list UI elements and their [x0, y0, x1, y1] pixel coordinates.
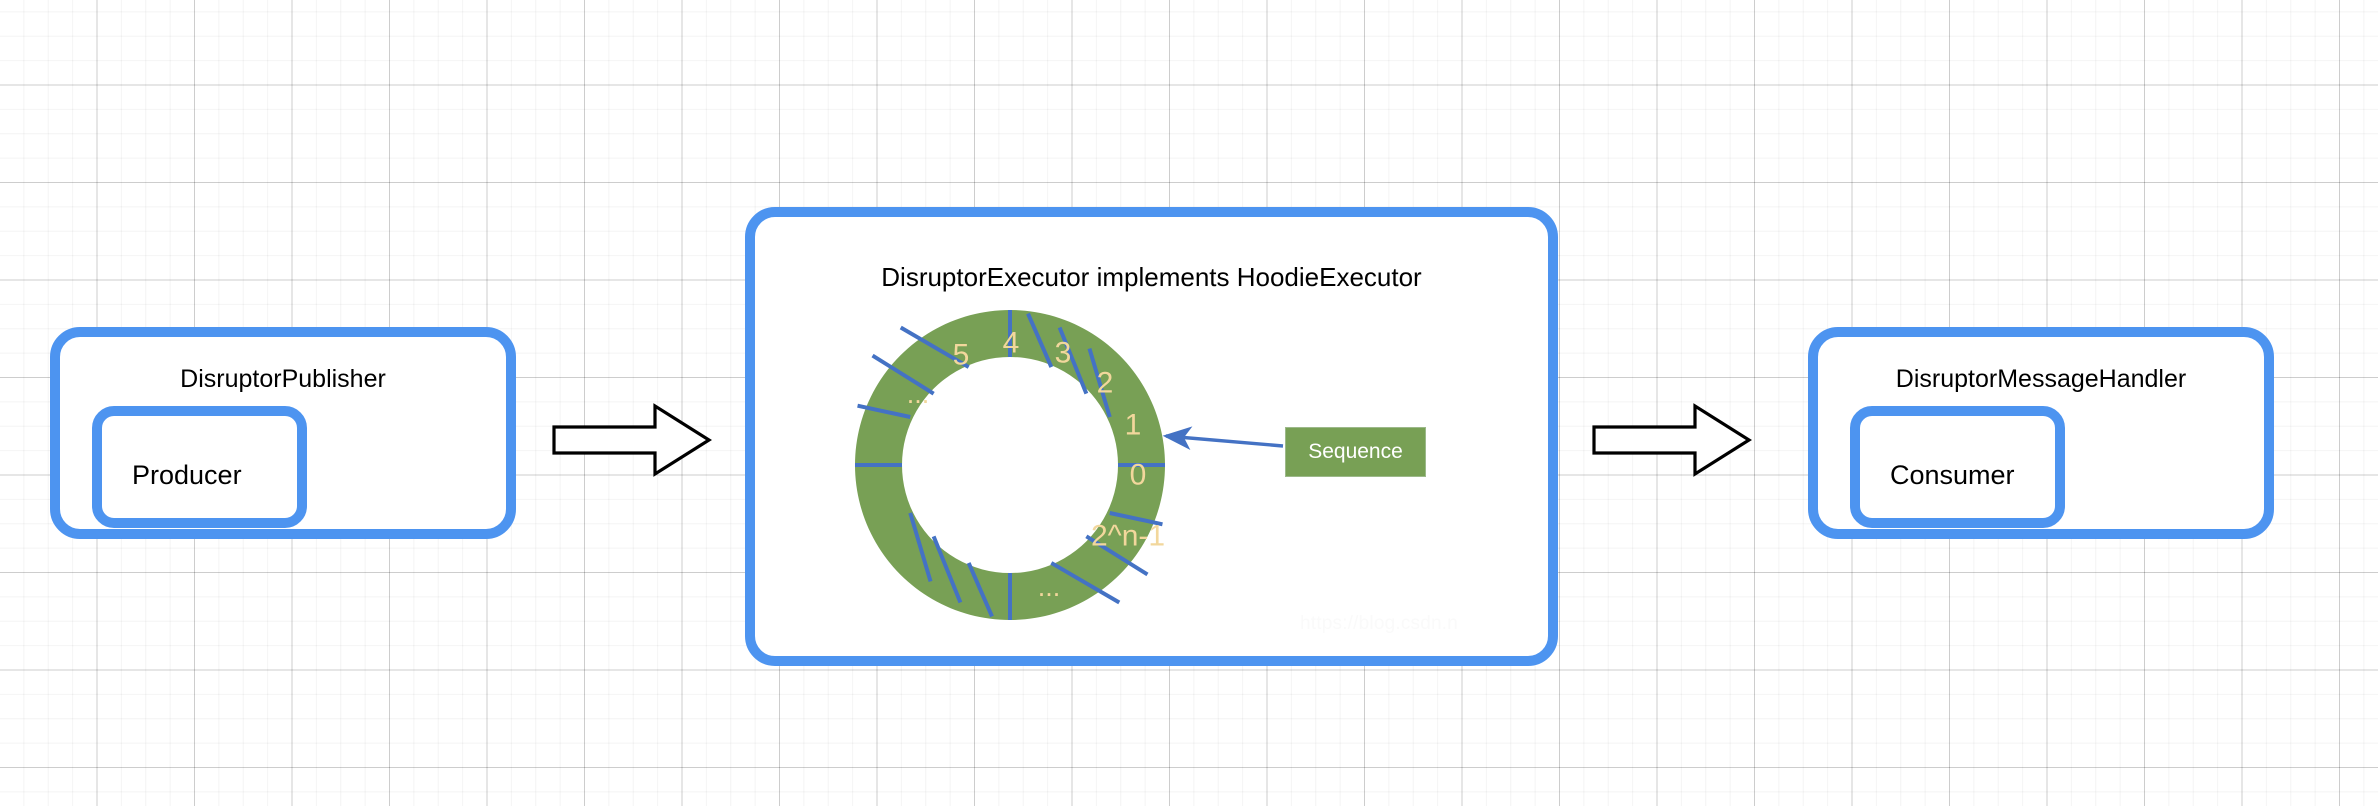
producer-label: Producer [132, 460, 242, 491]
diagram-canvas: DisruptorPublisher Producer DisruptorExe… [0, 0, 2378, 806]
ring-slot-label-1: 1 [1125, 409, 1142, 442]
ring-slot-label-3: 3 [1055, 337, 1072, 370]
disruptor-publisher-title: DisruptorPublisher [60, 365, 506, 394]
sequence-connector-line [1166, 436, 1283, 446]
consumer-box[interactable]: Consumer [1850, 406, 2065, 528]
flow-arrow-executor-to-handler [1592, 400, 1752, 480]
flow-arrow-publisher-to-executor [552, 400, 712, 480]
sequence-to-ring-connector [1140, 420, 1300, 480]
sequence-label: Sequence [1308, 440, 1403, 464]
watermark-text: https://blog.csdn.n [1300, 613, 1458, 635]
ring-slot-label-2: 2 [1097, 367, 1114, 400]
ring-slot-label-ellipsis-upper: ... [907, 379, 930, 409]
consumer-label: Consumer [1890, 460, 2015, 491]
block-arrow-shape [1594, 406, 1749, 474]
block-arrow-shape [554, 406, 709, 474]
ring-slot-label-ellipsis-lower: ... [1038, 572, 1061, 602]
disruptor-message-handler-title: DisruptorMessageHandler [1818, 365, 2264, 394]
ring-slot-label-4: 4 [1003, 327, 1020, 360]
sequence-box[interactable]: Sequence [1285, 427, 1426, 477]
ring-slot-label-5: 5 [953, 339, 970, 372]
ring-slot-label-last: 2^n-1 [1091, 520, 1165, 553]
disruptor-executor-title: DisruptorExecutor implements HoodieExecu… [755, 262, 1548, 293]
producer-box[interactable]: Producer [92, 406, 307, 528]
ring-buffer: 0 1 2 3 4 5 ... ... 2^n-1 [845, 300, 1175, 630]
